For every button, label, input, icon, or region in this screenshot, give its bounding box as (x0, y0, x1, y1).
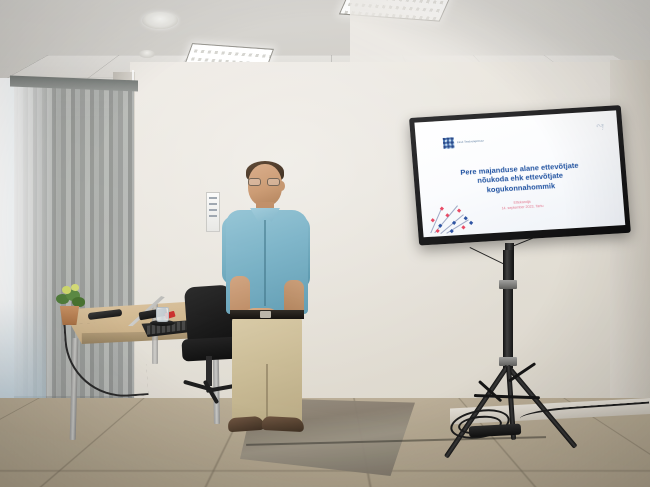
shoe (228, 416, 265, 432)
org-logo-mark-icon (443, 137, 455, 149)
presenter (222, 164, 318, 434)
org-logo-text: Eesti Teadusagentuur (457, 139, 484, 144)
belt-buckle (260, 311, 271, 318)
potted-plant (52, 280, 88, 310)
trouser-seam (266, 364, 268, 424)
presentation-display[interactable]: Eesti Teadusagentuur ∾ᴉ Pere majanduse a… (409, 105, 631, 246)
slide-corner-logo-icon: ∾ᴉ (595, 120, 604, 131)
slide-title: Pere majanduse alane ettevõtjate nõukoda… (432, 159, 608, 198)
tripod-column (503, 250, 513, 368)
glasses-icon (248, 178, 282, 186)
network-node-graphic (424, 199, 489, 237)
shirt-placket (264, 220, 266, 306)
tripod-collar-upper[interactable] (499, 280, 517, 289)
wall-sign (206, 192, 220, 232)
drinking-glass (156, 307, 169, 322)
shoe (262, 416, 305, 432)
tv-screen[interactable]: Eesti Teadusagentuur ∾ᴉ Pere majanduse a… (414, 110, 625, 237)
room-photo-scene: Eesti Teadusagentuur ∾ᴉ Pere majanduse a… (0, 0, 650, 487)
slide-organization-logo: Eesti Teadusagentuur (443, 135, 485, 148)
